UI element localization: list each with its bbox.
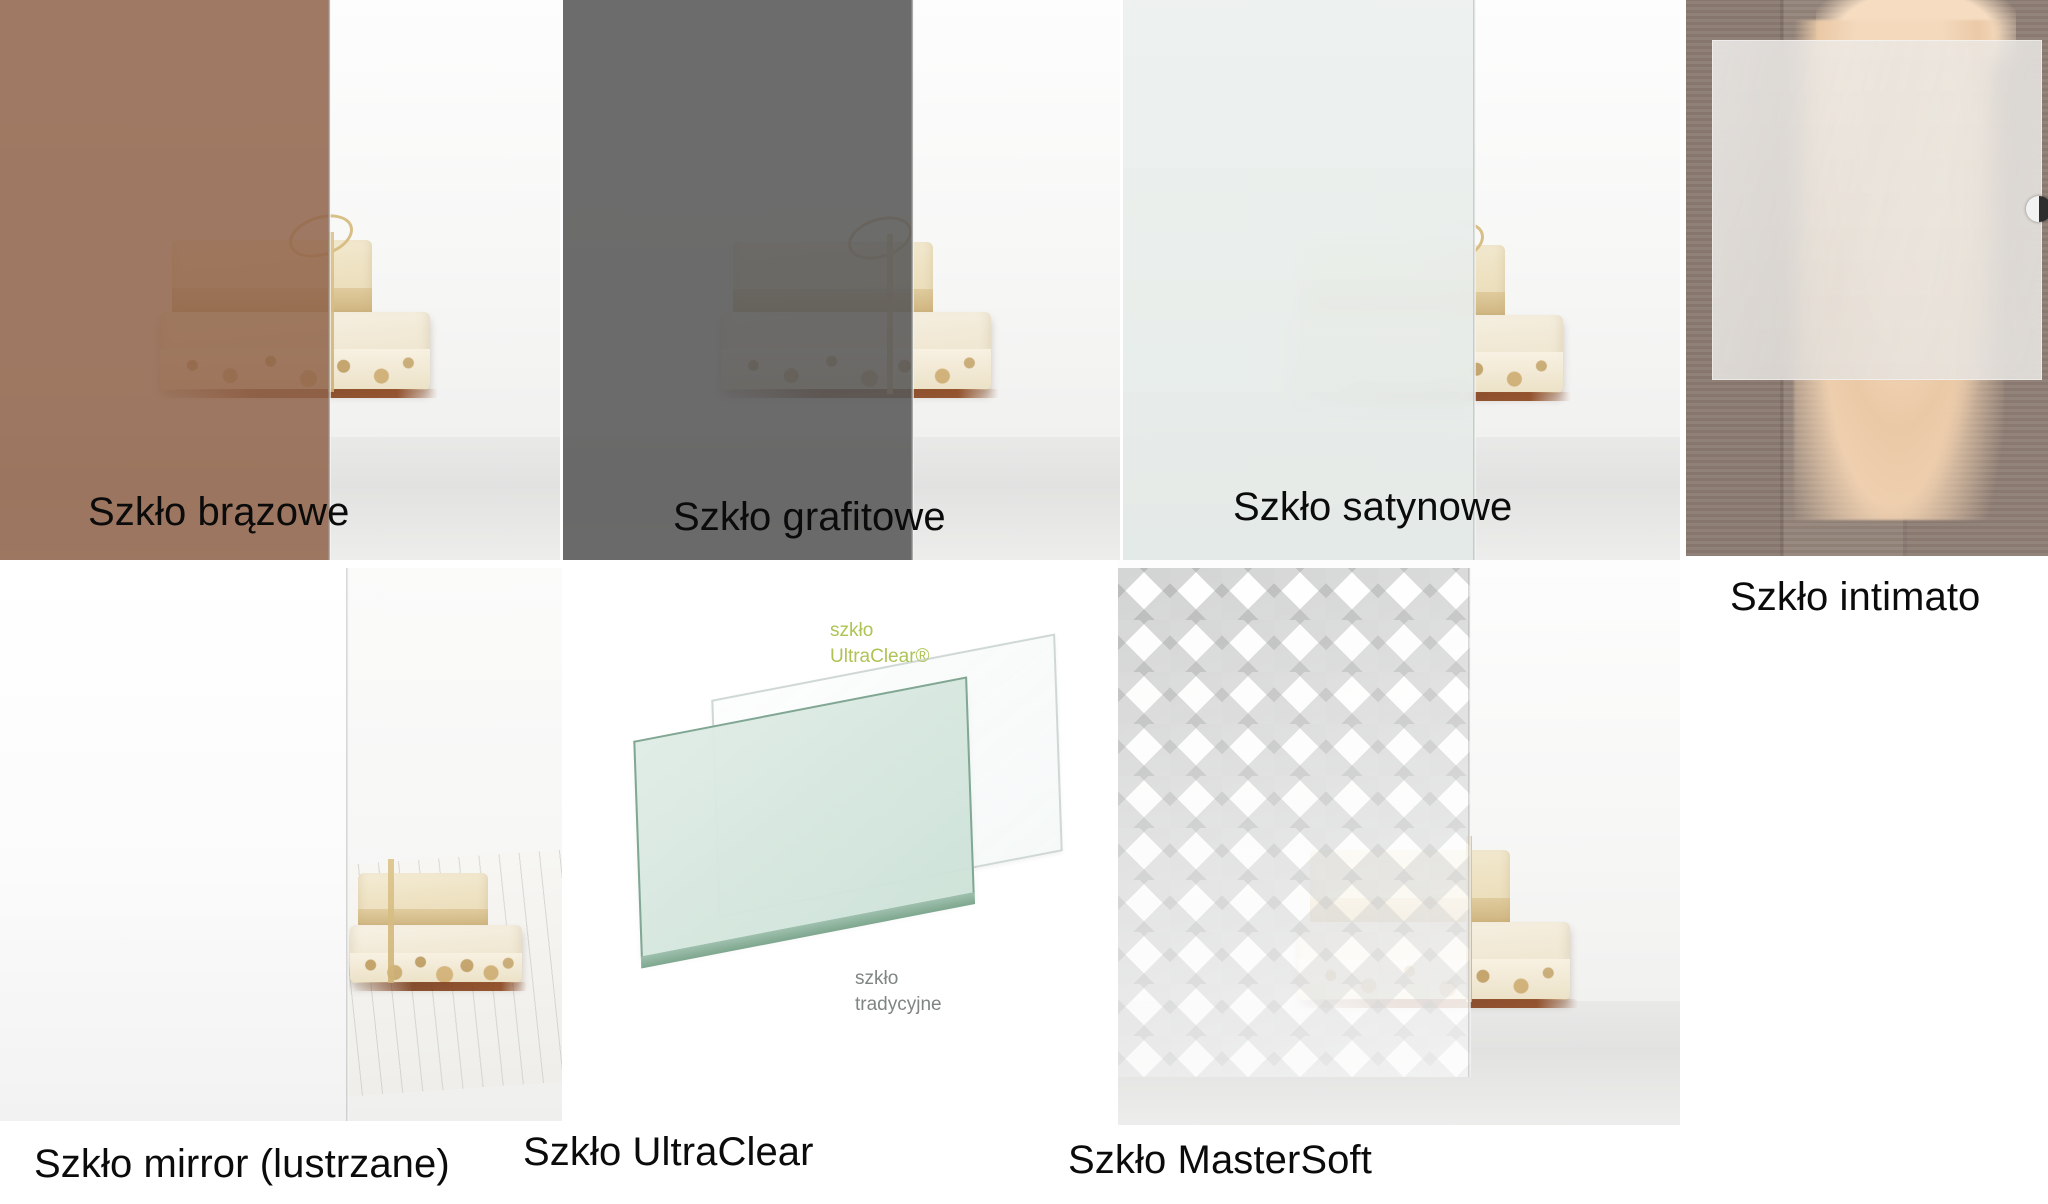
label-ultraclear-annotation: szkło	[830, 618, 873, 644]
caption-szklo-ultraclear: Szkło UltraClear	[523, 1130, 814, 1175]
glass-pane-brown	[0, 0, 330, 560]
glass-types-gallery: Szkło brązowe	[0, 0, 2048, 1204]
photo-szklo-mirror	[0, 568, 562, 1121]
label-ultraclear-annotation-2: UltraClear®	[830, 644, 930, 670]
glass-pane-satin	[1123, 0, 1475, 560]
card-szklo-intimato[interactable]: Szkło intimato	[1686, 0, 2048, 620]
photo-szklo-satynowe	[1123, 0, 1680, 560]
photo-szklo-intimato	[1686, 0, 2048, 556]
card-szklo-grafitowe[interactable]: Szkło grafitowe	[563, 0, 1120, 560]
card-szklo-satynowe[interactable]: Szkło satynowe	[1123, 0, 1680, 560]
shower-door-handle-icon[interactable]	[2026, 196, 2048, 222]
label-traditional-annotation: szkło	[855, 966, 898, 992]
caption-szklo-mastersoft: Szkło MasterSoft	[1068, 1138, 1372, 1183]
soap-shadow	[353, 982, 527, 991]
caption-szklo-intimato: Szkło intimato	[1730, 575, 1980, 620]
soap-bar-top	[358, 873, 488, 931]
card-szklo-mastersoft[interactable]: Szkło MasterSoft	[1118, 560, 1680, 1204]
glass-pane-mirror	[0, 568, 348, 1121]
card-szklo-mirror[interactable]: Szkło mirror (lustrzane)	[0, 568, 562, 1204]
glass-pane-graphite	[563, 0, 913, 560]
soap-stack	[350, 873, 550, 983]
card-szklo-ultraclear[interactable]: szkło UltraClear® szkło tradycyjne Szkło…	[565, 568, 1118, 1204]
caption-szklo-mirror: Szkło mirror (lustrzane)	[34, 1142, 450, 1187]
soap-bar-bottom-face	[350, 953, 522, 983]
photo-szklo-ultraclear: szkło UltraClear® szkło tradycyjne	[565, 568, 1118, 1105]
photo-szklo-brazowe	[0, 0, 560, 560]
glass-edge	[346, 568, 349, 1121]
photo-szklo-grafitowe	[563, 0, 1120, 560]
caption-szklo-grafitowe: Szkło grafitowe	[673, 495, 946, 540]
glass-sheet-traditional-surface	[633, 676, 974, 958]
glass-edge	[1468, 568, 1471, 1077]
glass-edge	[911, 0, 914, 560]
caption-szklo-brazowe: Szkło brązowe	[88, 490, 349, 535]
glass-pane-mastersoft-highlight	[1118, 568, 1470, 1077]
twine-vertical	[388, 859, 394, 983]
label-traditional-annotation-2: tradycyjne	[855, 992, 942, 1018]
card-szklo-brazowe[interactable]: Szkło brązowe	[0, 0, 560, 560]
glass-pane-intimato	[1712, 40, 2042, 380]
glass-edge	[1473, 0, 1476, 560]
glass-edge	[328, 0, 331, 560]
glass-sheet-edge	[641, 892, 975, 968]
caption-szklo-satynowe: Szkło satynowe	[1233, 485, 1512, 530]
photo-szklo-mastersoft	[1118, 560, 1680, 1125]
glass-pane-mastersoft	[1118, 568, 1470, 1077]
soap-bar-bottom	[350, 925, 522, 983]
glass-sheet-traditional	[637, 708, 967, 923]
